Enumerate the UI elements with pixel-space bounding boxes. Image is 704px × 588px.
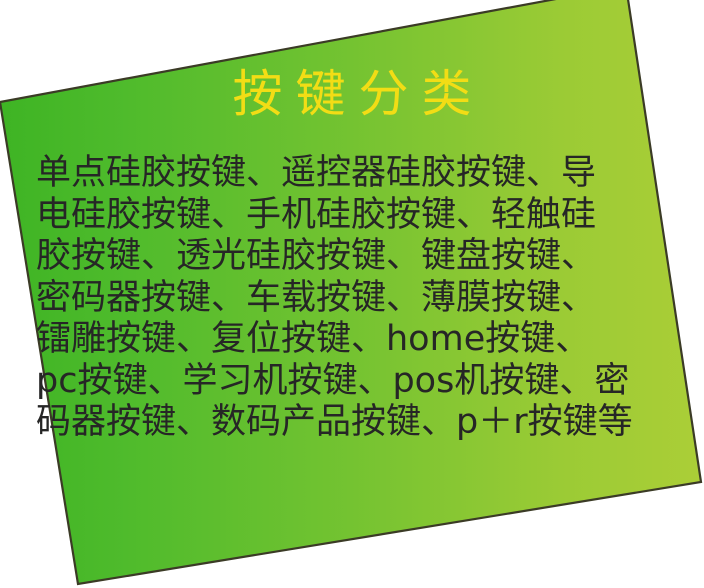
text-layer: 按键分类 单点硅胶按键、遥控器硅胶按键、导 电硅胶按键、手机硅胶按键、轻触硅 胶… — [0, 0, 704, 588]
body-line: 单点硅胶按键、遥控器硅胶按键、导 — [36, 153, 672, 195]
body-line: 胶按键、透光硅胶按键、键盘按键、 — [36, 236, 672, 278]
body-line: 镭雕按键、复位按键、home按键、 — [36, 319, 672, 361]
body-line: 电硅胶按键、手机硅胶按键、轻触硅 — [36, 195, 672, 237]
banner-image: 按键分类 单点硅胶按键、遥控器硅胶按键、导 电硅胶按键、手机硅胶按键、轻触硅 胶… — [0, 0, 704, 588]
page-title: 按键分类 — [0, 66, 704, 122]
body-text-block: 单点硅胶按键、遥控器硅胶按键、导 电硅胶按键、手机硅胶按键、轻触硅 胶按键、透光… — [36, 153, 672, 444]
body-line: 码器按键、数码产品按键、p＋r按键等 — [36, 402, 672, 444]
body-line: 密码器按键、车载按键、薄膜按键、 — [36, 278, 672, 320]
body-line: pc按键、学习机按键、pos机按键、密 — [36, 361, 672, 403]
